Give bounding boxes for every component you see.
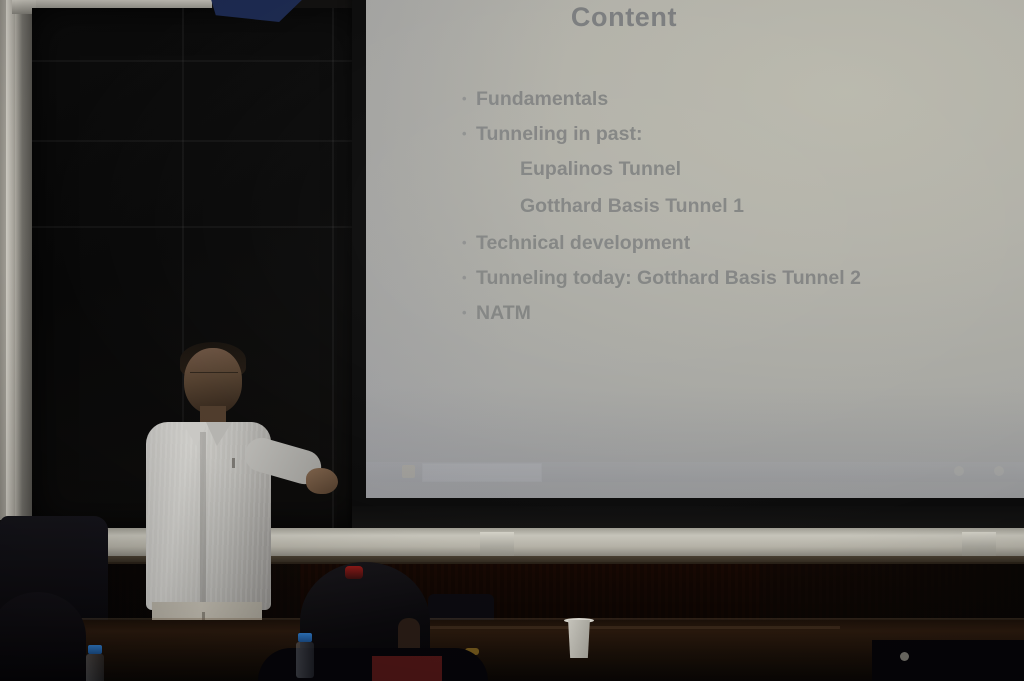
- slide-subbullet-item: Gotthard Basis Tunnel 1: [462, 193, 1024, 219]
- projection-screen-frame: Content • Fundamentals • Tunneling in pa…: [352, 0, 1024, 526]
- bullet-dot-icon: •: [462, 265, 476, 291]
- slide-bullet-text: Technical development: [476, 230, 690, 256]
- slide-bullet-text: Gotthard Basis Tunnel 1: [520, 193, 744, 219]
- slide-bullet-item: • NATM: [462, 300, 1024, 326]
- slide-bullet-text: Eupalinos Tunnel: [520, 156, 681, 182]
- bottle-body: [86, 654, 104, 681]
- audience-red-shirt: [372, 656, 442, 681]
- water-bottle: [296, 633, 314, 678]
- hair-tie: [345, 566, 363, 579]
- slide-bullet-text: NATM: [476, 300, 531, 326]
- slide-subbullet-item: Eupalinos Tunnel: [462, 156, 1024, 182]
- taskbar-app-icon: [402, 465, 415, 478]
- bullet-dot-icon: •: [462, 300, 476, 326]
- front-desk: [0, 620, 1024, 681]
- slide-bullet-item: • Fundamentals: [462, 86, 1024, 112]
- slide-bullet-text: Tunneling today: Gotthard Basis Tunnel 2: [476, 265, 861, 291]
- taskbar-window-button: [422, 463, 542, 482]
- bottle-cap: [298, 633, 312, 642]
- taskbar-tray-icon: [954, 466, 964, 476]
- blackboard-grid-line: [32, 140, 367, 142]
- door-frame-highlight: [6, 0, 15, 520]
- bullet-dot-icon: •: [462, 121, 476, 147]
- projected-taskbar: [366, 462, 1024, 482]
- blackboard-grid-line: [32, 226, 367, 228]
- door-frame: [0, 0, 36, 520]
- slide-bullet-item: • Technical development: [462, 230, 1024, 256]
- water-bottle: [86, 645, 104, 681]
- ledge-bracket: [480, 532, 514, 556]
- shirt-pocket-pen: [232, 458, 235, 468]
- desk-light-reflection: [900, 652, 909, 661]
- ledge-bracket: [962, 532, 996, 556]
- bottle-cap: [88, 645, 102, 654]
- slide-bullet-item: • Tunneling today: Gotthard Basis Tunnel…: [462, 265, 1024, 291]
- projection-screen-surface: Content • Fundamentals • Tunneling in pa…: [366, 0, 1024, 498]
- shirt-placket: [200, 432, 206, 602]
- bullet-dot-icon: •: [462, 86, 476, 112]
- slide-title: Content: [366, 2, 1024, 33]
- desk-reflection: [420, 626, 840, 629]
- slide-bullet-text: Fundamentals: [476, 86, 608, 112]
- bottle-body: [296, 642, 314, 678]
- bullet-dot-icon: •: [462, 230, 476, 256]
- paper-cup: [566, 620, 592, 658]
- glasses-icon: [190, 372, 238, 382]
- presentation-slide: Content • Fundamentals • Tunneling in pa…: [366, 0, 1024, 498]
- slide-bullet-list: • Fundamentals • Tunneling in past: Eupa…: [462, 86, 1024, 335]
- audience-head-left: [0, 592, 86, 681]
- presenter-hand: [306, 468, 338, 494]
- lecture-hall-photo: Content • Fundamentals • Tunneling in pa…: [0, 0, 1024, 681]
- taskbar-tray-icon: [994, 466, 1004, 476]
- blackboard-grid-line: [32, 60, 367, 62]
- slide-bullet-text: Tunneling in past:: [476, 121, 642, 147]
- slide-bullet-item: • Tunneling in past:: [462, 121, 1024, 147]
- chair-back-right: [872, 640, 1024, 681]
